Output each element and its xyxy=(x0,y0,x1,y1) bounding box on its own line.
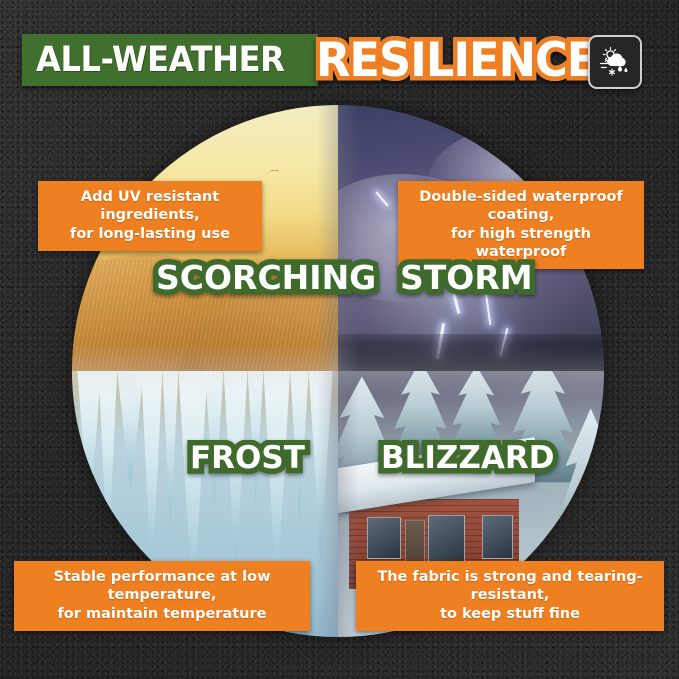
callout-line-1: Stable performance at low temperature, xyxy=(24,568,300,605)
all-weather-resilience-poster: ALL-WEATHER RESILIENCE xyxy=(0,0,679,679)
callout-line-1: The fabric is strong and tearing-resista… xyxy=(366,568,654,605)
weather-badge xyxy=(588,35,642,89)
icicle xyxy=(99,371,118,568)
label-frost: FROST xyxy=(190,440,305,476)
callout-storm: Double-sided waterproof coating, for hig… xyxy=(398,181,644,269)
cabin-window xyxy=(482,515,513,560)
callout-line-1: Double-sided waterproof coating, xyxy=(408,188,634,225)
cabin-window xyxy=(367,517,401,559)
callout-line-2: for long-lasting use xyxy=(48,225,252,243)
callout-line-1: Add UV resistant ingredients, xyxy=(48,188,252,225)
title-resilience: RESILIENCE xyxy=(316,33,596,88)
label-storm: STORM xyxy=(400,258,533,297)
sun-cloud-rain-snow-wind-icon xyxy=(598,45,632,79)
callout-blizzard: The fabric is strong and tearing-resista… xyxy=(356,561,664,631)
label-scorching: SCORCHING xyxy=(156,258,376,297)
label-blizzard: BLIZZARD xyxy=(381,440,554,476)
callout-scorching: Add UV resistant ingredients, for long-l… xyxy=(38,181,262,251)
callout-frost: Stable performance at low temperature, f… xyxy=(14,561,310,631)
header-title-bar: ALL-WEATHER RESILIENCE xyxy=(22,32,611,88)
horizontal-blend-seam xyxy=(72,344,604,397)
callout-line-2: for maintain temperature xyxy=(24,605,300,623)
callout-line-2: to keep stuff fine xyxy=(366,605,654,623)
green-title-banner: ALL-WEATHER xyxy=(22,34,318,86)
icicle xyxy=(141,371,162,589)
cabin-window xyxy=(428,515,465,562)
title-all-weather: ALL-WEATHER xyxy=(36,40,284,80)
resilience-title-wrap: RESILIENCE xyxy=(316,34,611,86)
bird-silhouette-icon xyxy=(270,170,278,174)
callout-line-2: for high strength waterproof xyxy=(408,225,634,262)
